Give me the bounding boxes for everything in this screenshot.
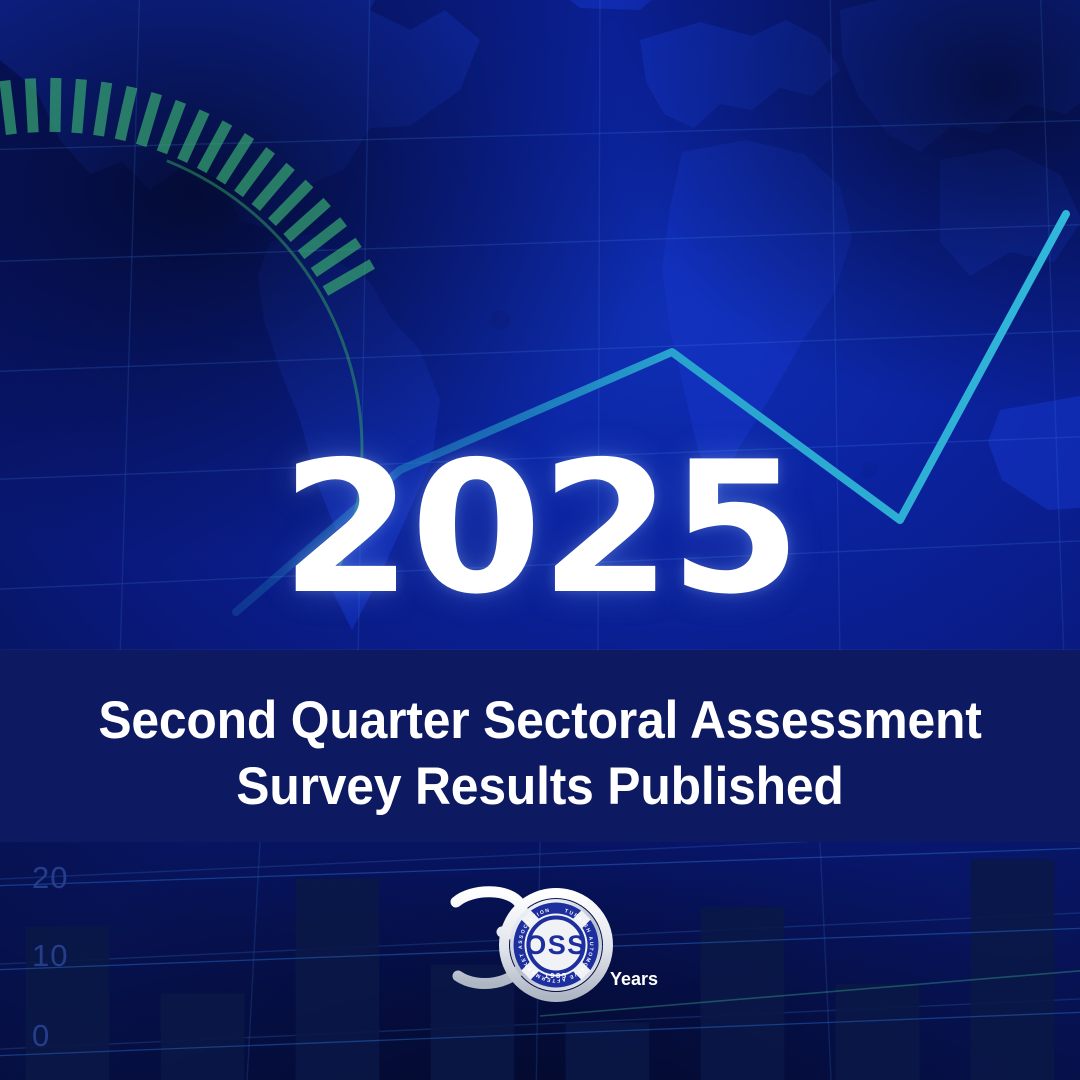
headline-text: Second Quarter Sectoral Assessment Surve…	[32, 688, 1047, 820]
axis-tick-labels: 20 10 0	[18, 860, 138, 1080]
axis-tick-0: 0	[32, 1018, 50, 1054]
year-heading: 2025	[0, 437, 1080, 619]
headline-line-2: Survey Results Published	[32, 754, 1047, 820]
oss-30-years-logo: TURKISH AUTOMOTIVE AFTERMARKET ASSOCIATI…	[432, 880, 672, 1010]
badge-founded-year: 1985	[544, 971, 567, 980]
poster-canvas: 20 10 0 2025 Second Quarter Sectoral Ass…	[0, 0, 1080, 1080]
oss-badge: TURKISH AUTOMOTIVE AFTERMARKET ASSOCIATI…	[510, 899, 602, 991]
headline-line-1: Second Quarter Sectoral Assessment	[32, 688, 1047, 754]
badge-mark-text: OSS	[525, 930, 587, 960]
axis-tick-10: 10	[32, 938, 68, 974]
axis-tick-20: 20	[32, 860, 68, 896]
years-label: Years	[610, 969, 658, 989]
